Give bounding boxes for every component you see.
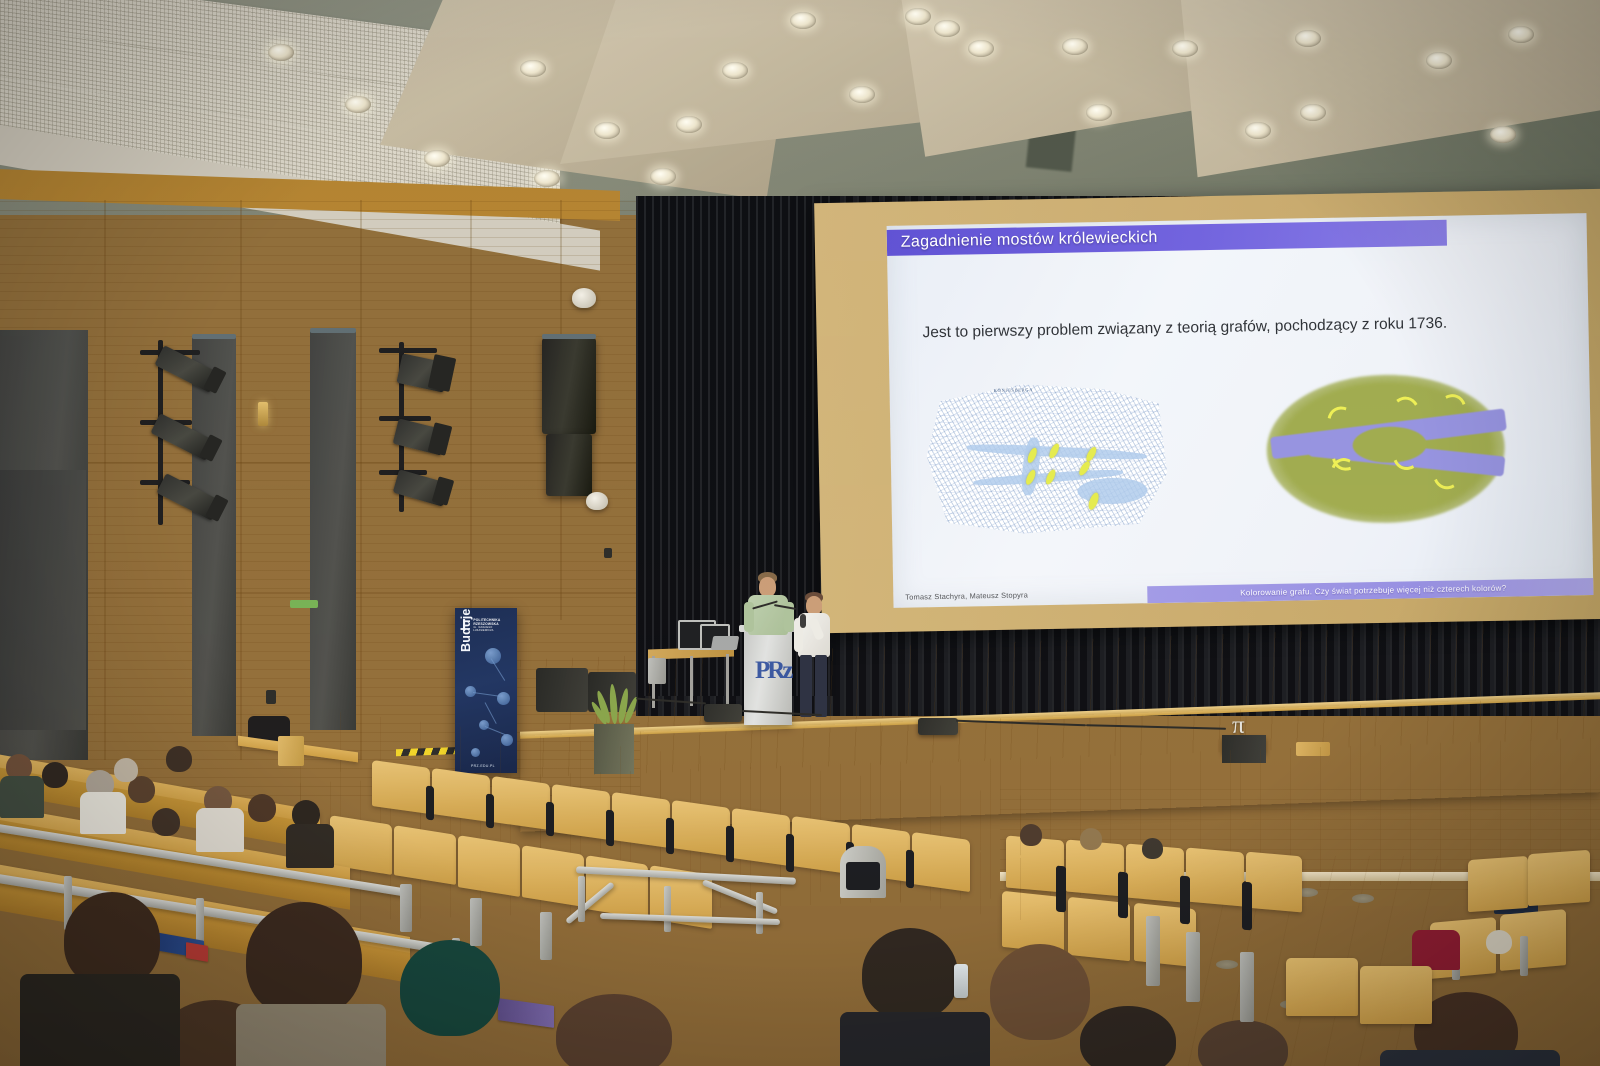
chair-rear[interactable]	[278, 736, 304, 766]
audience-jacket-red	[1412, 930, 1460, 970]
audience-head	[152, 808, 180, 836]
table-leg	[690, 656, 693, 706]
audience-head	[1486, 930, 1512, 954]
org-subname: im. IGNACEGO ŁUKASIEWICZA	[473, 626, 509, 632]
av-pillar-screen	[846, 862, 880, 890]
theater-seat[interactable]	[1528, 850, 1590, 906]
seat-arm-frame	[1240, 952, 1254, 1022]
theater-seat[interactable]	[912, 832, 970, 892]
banner-slogan: Budujemy przyszłość!	[459, 608, 473, 652]
seat-arm-frame	[1186, 932, 1200, 1002]
legs	[800, 655, 812, 717]
downlight-icon	[1086, 104, 1112, 121]
downlight-icon	[1508, 26, 1534, 43]
seat-shadow	[666, 817, 674, 854]
stage-monitor-wedge	[918, 718, 958, 735]
downlight-icon	[722, 62, 748, 79]
rail-post	[578, 876, 585, 922]
slide-footer-bar: Kolorowanie grafu. Czy świat potrzebuje …	[1147, 578, 1593, 603]
seat-arm-frame	[400, 884, 412, 932]
slide-body-text: Jest to pierwszy problem związany z teor…	[922, 311, 1482, 345]
downlight-icon	[345, 96, 371, 113]
stage-subwoofer	[536, 668, 588, 712]
seat-shadow	[546, 801, 554, 836]
downlight-icon	[1490, 126, 1516, 143]
audience-head	[1142, 838, 1163, 859]
foreground-body	[20, 974, 180, 1066]
theater-seat[interactable]	[1360, 966, 1432, 1024]
seat-shadow	[1180, 876, 1190, 925]
foreground-head	[862, 928, 958, 1020]
seat-arm-frame	[1146, 916, 1160, 986]
downlight-icon	[968, 40, 994, 57]
line-array-speaker	[542, 338, 596, 434]
foreground-head	[246, 902, 362, 1018]
foreground-head	[990, 944, 1090, 1040]
side-door[interactable]	[0, 470, 86, 730]
slide-title-bar: Zagadnienie mostów królewieckich	[887, 220, 1447, 256]
theater-seat[interactable]	[586, 855, 648, 919]
seat-frame	[1520, 936, 1528, 976]
seat-shadow	[426, 785, 434, 820]
downlight-icon	[1300, 104, 1326, 121]
seat-shadow	[1118, 872, 1128, 919]
molecule-bond	[473, 692, 501, 697]
seat-shadow	[1242, 882, 1252, 931]
exit-sign-box	[290, 600, 318, 608]
theater-seat[interactable]	[394, 825, 456, 885]
foreground-body	[840, 1012, 990, 1066]
seat-shadow	[726, 825, 734, 862]
theater-seat[interactable]	[672, 800, 730, 856]
downlight-icon	[849, 86, 875, 103]
theater-seat[interactable]	[492, 776, 550, 830]
handheld-microphone[interactable]	[800, 614, 806, 628]
downlight-icon	[905, 8, 931, 25]
downlight-icon	[534, 170, 560, 187]
rail-post	[664, 886, 671, 932]
water-bottle	[954, 964, 968, 998]
seat-shadow	[786, 833, 794, 872]
stage-light-rig-right	[375, 342, 505, 542]
presenter-with-microphone	[794, 592, 834, 720]
audience-head	[166, 746, 192, 772]
audience-head	[42, 762, 68, 788]
chair-stage[interactable]	[648, 658, 666, 684]
rail-post	[756, 892, 763, 934]
downlight-icon	[268, 44, 294, 61]
audience-body	[80, 792, 126, 834]
konigsberg-abstract-diagram	[1265, 367, 1508, 531]
downlight-icon	[594, 122, 620, 139]
seat-shadow	[606, 809, 614, 846]
wall-sconce-light	[258, 402, 268, 426]
theater-seat[interactable]	[552, 784, 610, 840]
legs	[815, 655, 827, 717]
downlight-icon	[1295, 30, 1321, 47]
speaker-column-right	[310, 330, 356, 730]
stage-monitor-wedge	[704, 704, 742, 722]
stage-light-rig-left	[140, 340, 270, 540]
speaker-column-cap	[310, 328, 356, 333]
auditorium-photo: Zagadnienie mostów królewieckich Jest to…	[0, 0, 1600, 1066]
speaker-cabinet	[546, 434, 592, 496]
wall-panel-seam	[360, 200, 362, 760]
downlight-icon	[934, 20, 960, 37]
notebook	[498, 998, 554, 1028]
foreground-head	[1080, 1006, 1176, 1066]
foreground-body	[236, 1004, 386, 1066]
wall-sensor	[266, 690, 276, 704]
konigsberg-historical-map	[925, 379, 1168, 535]
downlight-icon	[1245, 122, 1271, 139]
laptop[interactable]	[711, 636, 739, 650]
org-name: POLITECHNIKA RZESZOWSKA	[473, 618, 509, 626]
theater-seat[interactable]	[1186, 847, 1244, 906]
theater-seat[interactable]	[732, 808, 790, 866]
torso	[748, 595, 788, 635]
foreground-head	[556, 994, 672, 1066]
wall-sensor	[604, 548, 612, 558]
audience-head	[1080, 828, 1102, 850]
slide-surface: Zagadnienie mostów królewieckich Jest to…	[887, 213, 1594, 608]
line-array-cap	[542, 334, 596, 339]
downlight-icon	[1172, 40, 1198, 57]
seat-arm-frame	[540, 912, 552, 960]
downlight-icon	[676, 116, 702, 133]
floor-vent	[1352, 894, 1374, 903]
foreground-head	[400, 940, 500, 1036]
slide-title: Zagadnienie mostów królewieckich	[887, 229, 1158, 252]
downlight-icon	[650, 168, 676, 185]
downlight-icon	[790, 12, 816, 29]
theater-seat[interactable]	[432, 768, 490, 822]
dome-camera-icon	[586, 492, 608, 510]
molecule-node	[497, 692, 510, 705]
theater-seat[interactable]	[458, 835, 520, 897]
table-leg	[726, 654, 729, 706]
logo-text: POLITECHNIKA RZESZOWSKA im. IGNACEGO ŁUK…	[473, 618, 509, 632]
audience-head	[114, 758, 138, 782]
audience-body	[286, 824, 334, 868]
slide-footer-text: Kolorowanie grafu. Czy świat potrzebuje …	[1240, 584, 1506, 598]
theater-seat[interactable]	[1246, 852, 1302, 913]
head	[759, 577, 776, 597]
floor-vent	[1216, 960, 1238, 969]
downlight-icon	[520, 60, 546, 77]
theater-seat[interactable]	[372, 760, 430, 814]
seat-shadow	[906, 849, 914, 888]
downlight-icon	[424, 150, 450, 167]
projection-screen: Zagadnienie mostów królewieckich Jest to…	[814, 189, 1600, 633]
theater-seat[interactable]	[1286, 958, 1358, 1016]
downlight-icon	[1062, 38, 1088, 55]
theater-seat[interactable]	[1468, 856, 1528, 912]
dome-camera-icon	[572, 288, 596, 308]
theater-seat[interactable]	[612, 792, 670, 848]
audience-head	[248, 794, 276, 822]
seat-arm-frame	[470, 898, 482, 946]
foreground-body	[1380, 1050, 1560, 1066]
theater-seat[interactable]	[522, 845, 584, 907]
notebook	[186, 942, 208, 962]
seat-shadow	[486, 793, 494, 828]
slide-figures: KÖNIGSBERGA	[909, 365, 1572, 542]
audience-body	[0, 776, 44, 818]
audience-body	[196, 808, 244, 852]
slide-authors: Tomasz Stachyra, Mateusz Stopyra	[905, 590, 1028, 601]
lectern-logo: PRz	[755, 656, 779, 686]
speaker-column-cap	[192, 334, 236, 339]
map-caption: KÖNIGSBERGA	[994, 387, 1034, 393]
wall-panel-seam	[104, 200, 106, 760]
downlight-icon	[1426, 52, 1452, 69]
